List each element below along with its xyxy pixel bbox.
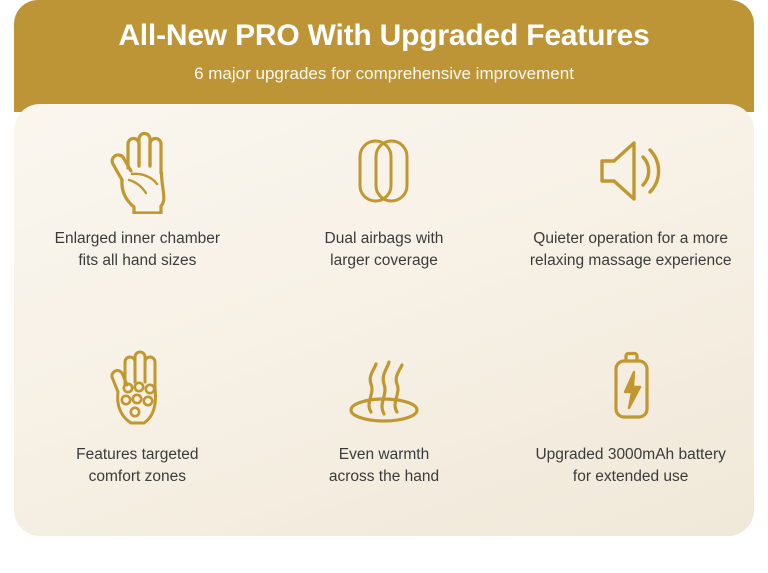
- feature-item-even-warmth: Even warmth across the hand: [261, 320, 508, 536]
- hand-pressure-points-icon: [97, 344, 177, 430]
- feature-item-quieter-operation: Quieter operation for a more relaxing ma…: [507, 104, 754, 320]
- page-subtitle: 6 major upgrades for comprehensive impro…: [14, 61, 754, 87]
- feature-caption: Dual airbags with larger coverage: [325, 228, 444, 272]
- promo-card: All-New PRO With Upgraded Features 6 maj…: [14, 0, 754, 536]
- feature-caption: Even warmth across the hand: [329, 444, 439, 488]
- page-title: All-New PRO With Upgraded Features: [14, 17, 754, 55]
- feature-caption: Features targeted comfort zones: [76, 444, 198, 488]
- battery-charging-icon: [596, 344, 666, 430]
- feature-item-comfort-zones: Features targeted comfort zones: [14, 320, 261, 536]
- open-hand-icon: [98, 128, 176, 214]
- feature-item-enlarged-chamber: Enlarged inner chamber fits all hand siz…: [14, 104, 261, 320]
- feature-caption: Upgraded 3000mAh battery for extended us…: [535, 444, 725, 488]
- dual-airbags-icon: [345, 128, 423, 214]
- promo-header: All-New PRO With Upgraded Features 6 maj…: [14, 0, 754, 112]
- feature-caption: Enlarged inner chamber fits all hand siz…: [55, 228, 220, 272]
- features-panel: Enlarged inner chamber fits all hand siz…: [14, 104, 754, 536]
- features-grid: Enlarged inner chamber fits all hand siz…: [14, 104, 754, 536]
- feature-item-dual-airbags: Dual airbags with larger coverage: [261, 104, 508, 320]
- speaker-volume-icon: [588, 128, 674, 214]
- warmth-steam-icon: [338, 344, 430, 430]
- feature-caption: Quieter operation for a more relaxing ma…: [530, 228, 732, 272]
- feature-item-upgraded-battery: Upgraded 3000mAh battery for extended us…: [507, 320, 754, 536]
